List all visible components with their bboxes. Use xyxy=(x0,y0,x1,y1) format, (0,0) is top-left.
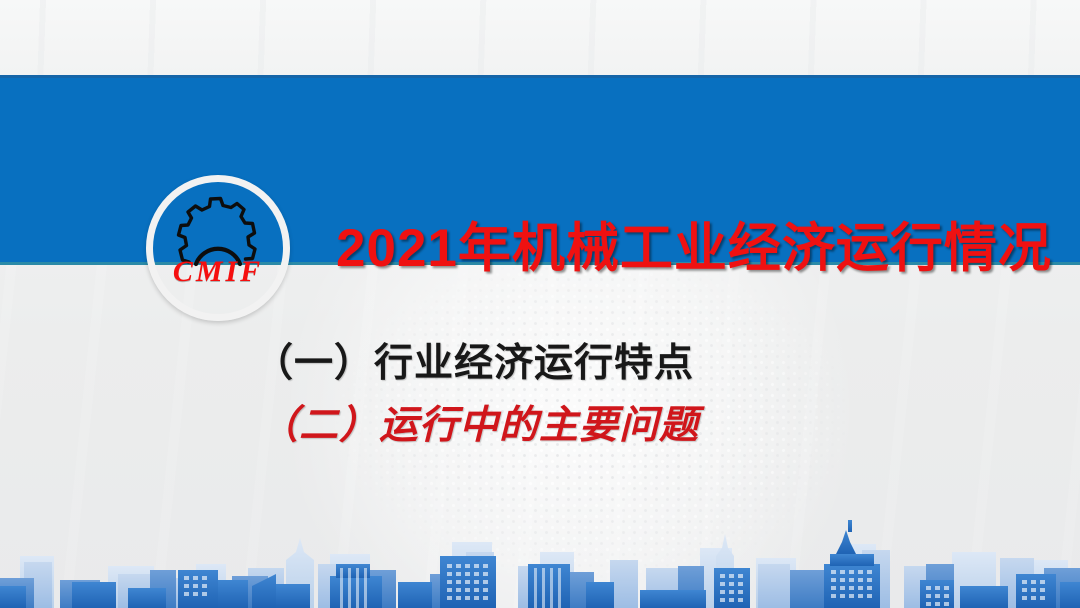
presentation-slide: CMIF 2021年机械工业经济运行情况 （一）行业经济运行特点 （二）运行中的… xyxy=(0,0,1080,608)
list-item-section-one[interactable]: （一）行业经济运行特点 xyxy=(254,340,1014,388)
top-strip xyxy=(0,0,1080,75)
logo-inner: CMIF xyxy=(153,182,283,314)
title-banner: CMIF 2021年机械工业经济运行情况 xyxy=(0,75,1080,265)
content-list: （一）行业经济运行特点 （二）运行中的主要问题 xyxy=(254,340,1014,449)
page-title: 2021年机械工业经济运行情况 xyxy=(336,219,1052,278)
city-skyline xyxy=(0,508,1080,608)
list-item-section-two[interactable]: （二）运行中的主要问题 xyxy=(254,402,1014,450)
gear-icon xyxy=(158,188,278,308)
logo-text: CMIF xyxy=(153,257,283,287)
cmif-logo: CMIF xyxy=(146,175,290,321)
